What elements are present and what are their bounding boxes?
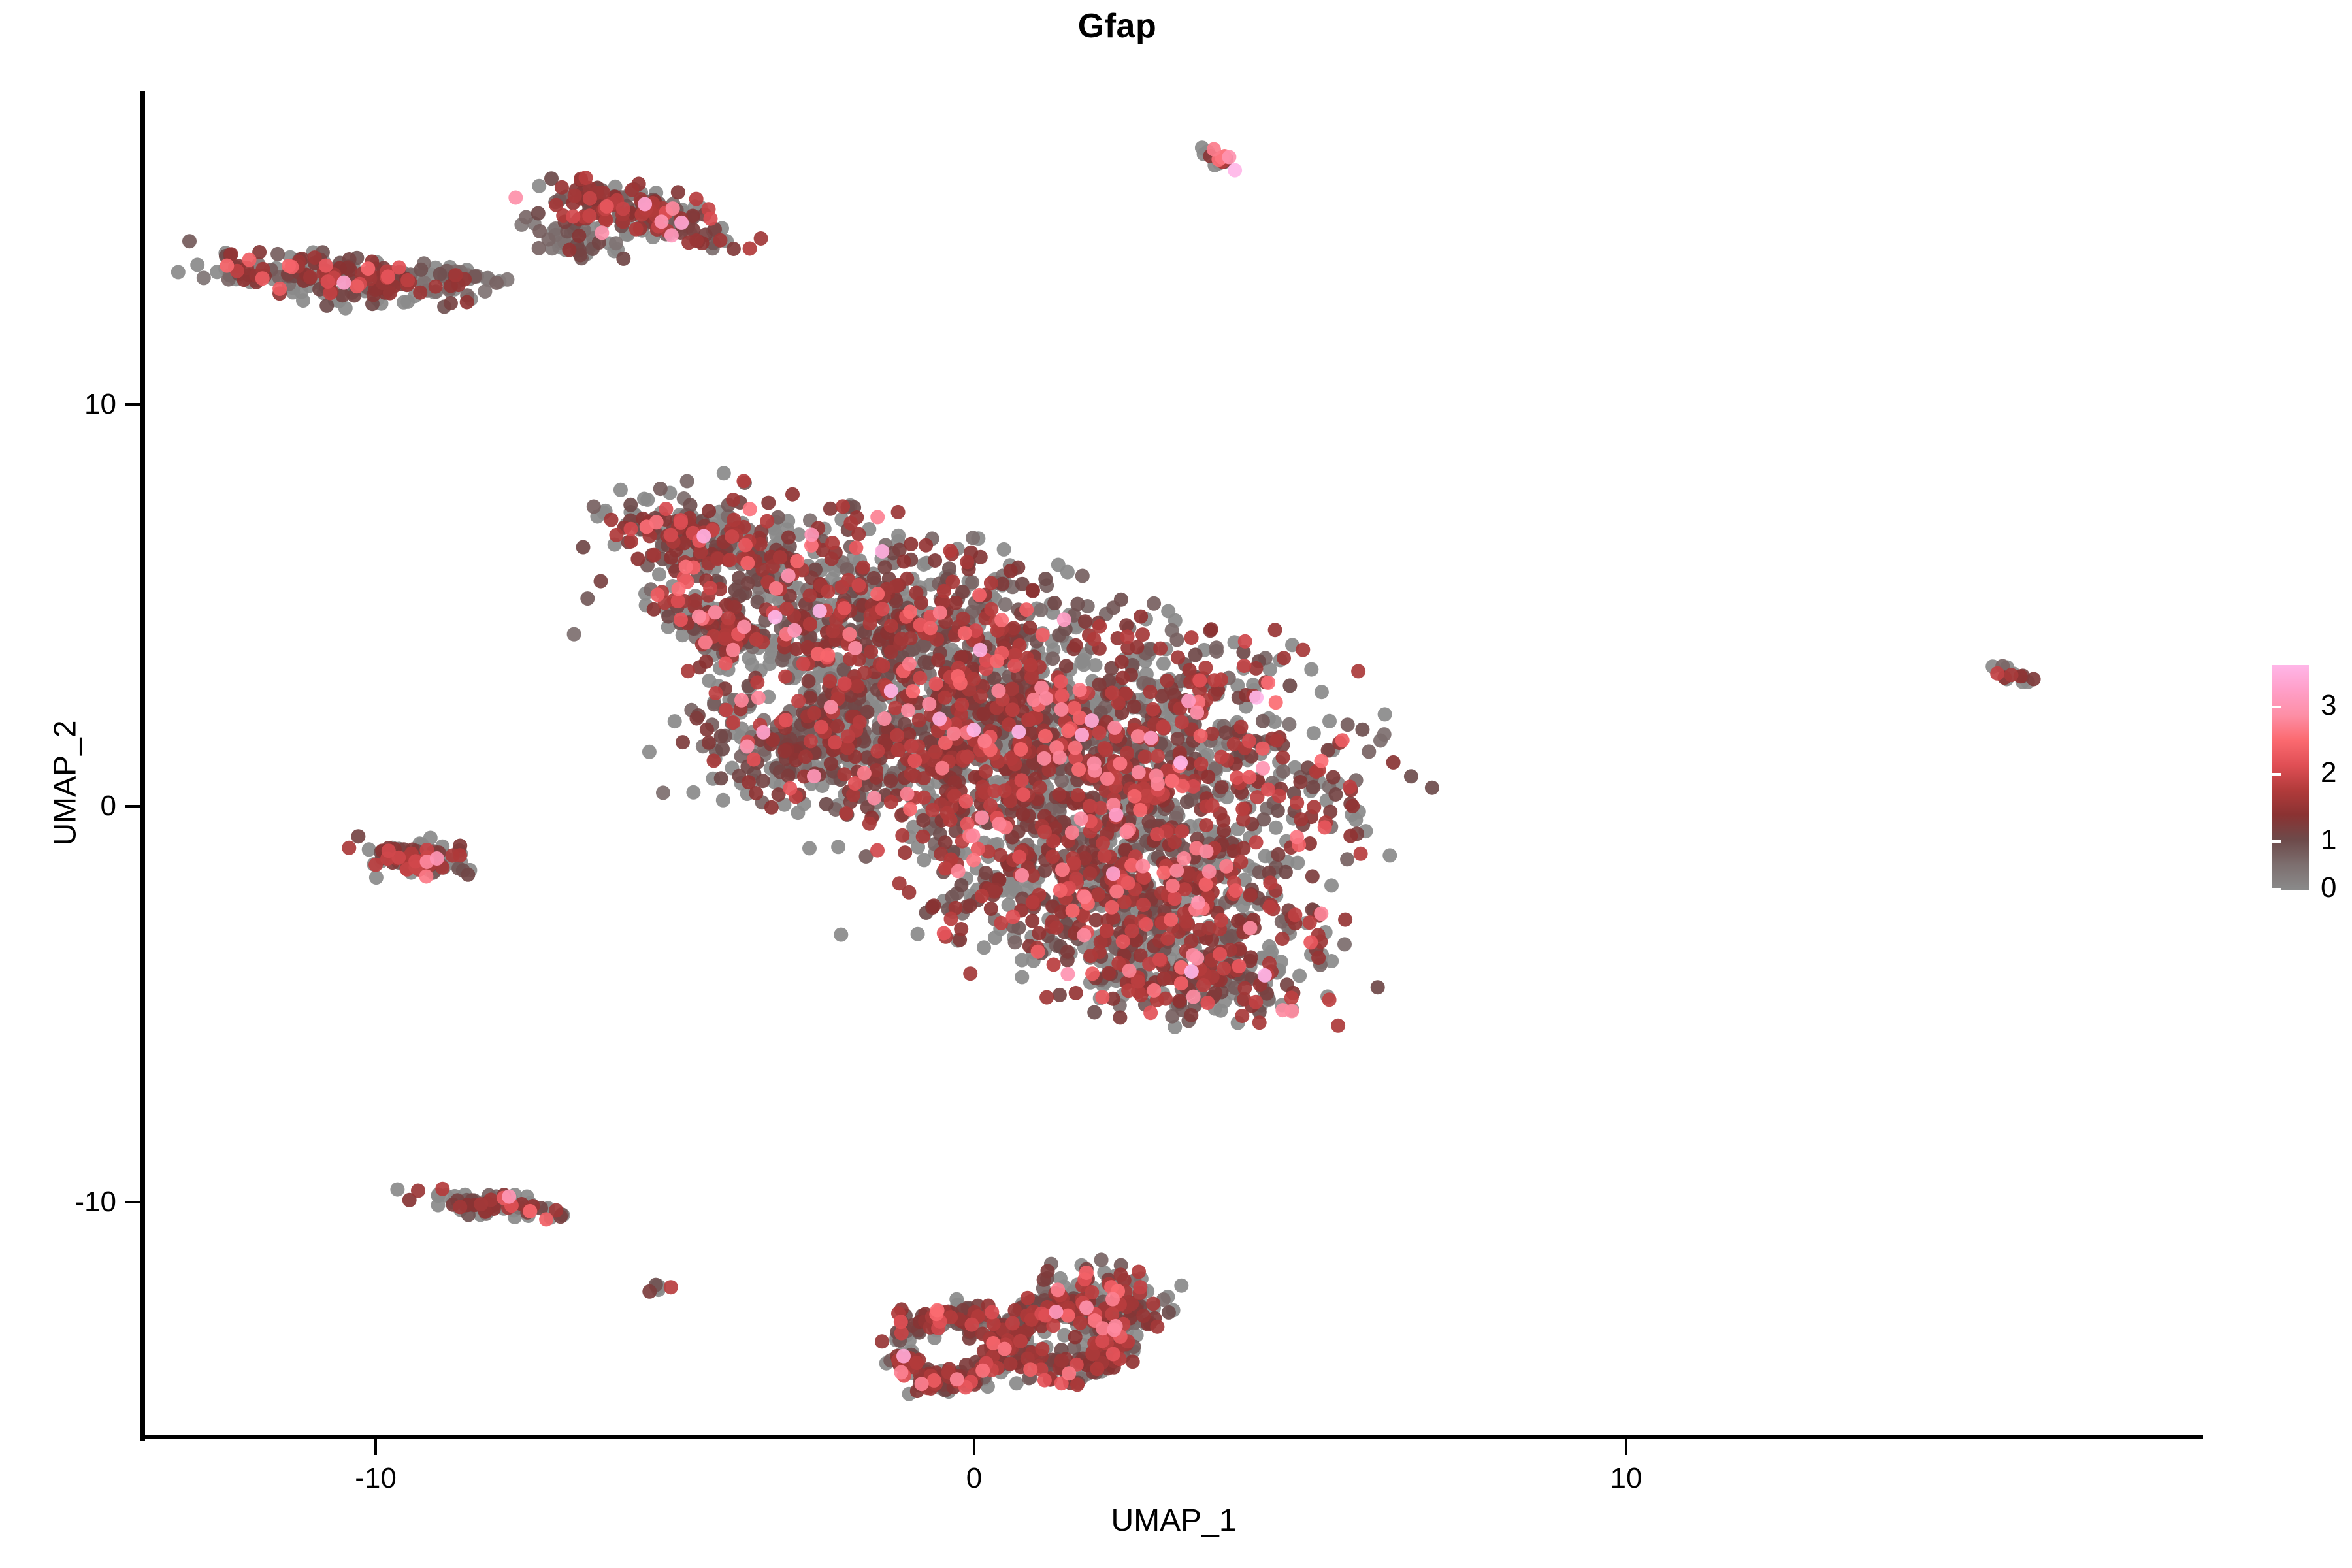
y-tick-mark	[125, 805, 140, 808]
colorbar-tick	[2263, 773, 2272, 776]
colorbar-tick-label: 0	[2321, 872, 2336, 904]
colorbar-tick	[2272, 773, 2281, 776]
y-tick-mark	[125, 403, 140, 406]
colorbar-tick	[2263, 840, 2272, 843]
colorbar-tick	[2272, 840, 2281, 843]
colorbar-tick	[2272, 706, 2281, 708]
y-axis-label: UMAP_2	[48, 555, 84, 1012]
x-axis-label: UMAP_1	[144, 1503, 2203, 1539]
colorbar-tick	[2263, 888, 2272, 890]
y-axis-line	[140, 91, 145, 1441]
y-tick-label: 0	[101, 790, 116, 823]
colorbar-tick	[2272, 888, 2281, 890]
colorbar-tick-label: 1	[2321, 824, 2336, 857]
figure-canvas: Gfap -10 0 10 10 0 -10 UMAP_1 UMAP_2 3 2…	[0, 0, 2352, 1568]
y-tick-mark	[125, 1201, 140, 1203]
colorbar-tick	[2263, 706, 2272, 708]
x-tick-mark	[973, 1439, 975, 1455]
x-tick-mark	[1625, 1439, 1627, 1455]
x-tick-label: 10	[1610, 1462, 1642, 1495]
colorbar-tick-label: 2	[2321, 757, 2336, 789]
x-tick-label: 0	[966, 1462, 982, 1495]
y-tick-label: -10	[74, 1186, 116, 1218]
colorbar-gradient	[2272, 665, 2309, 890]
y-tick-label: 10	[84, 388, 116, 421]
x-axis-line	[140, 1435, 2203, 1439]
colorbar-tick-label: 3	[2321, 689, 2336, 722]
x-tick-mark	[374, 1439, 377, 1455]
x-tick-label: -10	[355, 1462, 397, 1495]
scatter-points-layer	[0, 0, 2352, 1568]
